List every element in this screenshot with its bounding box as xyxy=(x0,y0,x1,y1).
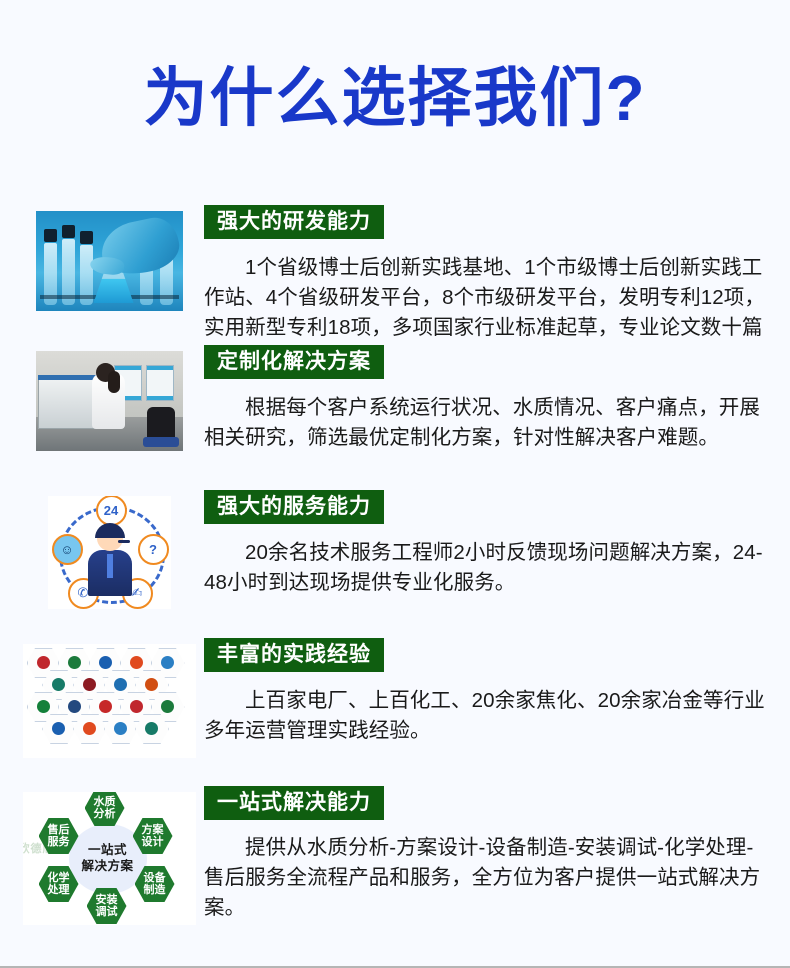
node-line2: 服务 xyxy=(48,836,70,848)
feature-section: 欣德欣 一站式 解决方案 水质 分析 方案 设计 设备 制造 xyxy=(0,786,790,936)
feature-thumbnail-wrap xyxy=(18,345,200,451)
feature-body: 强大的服务能力 20余名技术服务工程师2小时反馈现场问题解决方案，24-48小时… xyxy=(200,490,776,619)
feature-section: 定制化解决方案 根据每个客户系统运行状况、水质情况、客户痛点，开展相关研究，筛选… xyxy=(0,345,790,490)
customer-service-illustration: 24 ☺ ? ✆ ✍ xyxy=(48,496,171,609)
smiley-icon: ☺ xyxy=(52,534,83,565)
diagram-node-install-debug: 安装 调试 xyxy=(87,888,127,924)
node-line2: 设计 xyxy=(142,836,164,848)
node-line1: 售后 xyxy=(48,824,70,836)
node-line1: 设备 xyxy=(144,872,166,884)
support-agent-figure xyxy=(88,526,132,596)
one-stop-solution-diagram: 欣德欣 一站式 解决方案 水质 分析 方案 设计 设备 制造 xyxy=(23,792,196,925)
diagram-center-line1: 一站式 xyxy=(88,843,127,859)
lab-technician-photo xyxy=(36,351,183,451)
node-line1: 化学 xyxy=(48,872,70,884)
feature-body: 丰富的实践经验 上百家电厂、上百化工、20余家焦化、20余家冶金等行业多年运营管… xyxy=(200,638,776,767)
feature-thumbnail-wrap: 欣德欣 一站式 解决方案 水质 分析 方案 设计 设备 制造 xyxy=(18,786,200,925)
feature-thumbnail-wrap xyxy=(18,205,200,311)
client-logos-hexagon-grid xyxy=(23,644,196,758)
feature-badge: 强大的服务能力 xyxy=(204,490,384,525)
hexagon-cells xyxy=(27,648,192,754)
clock-icon: 24 xyxy=(96,496,127,526)
diagram-center-line2: 解决方案 xyxy=(81,859,133,875)
feature-badge: 定制化解决方案 xyxy=(204,345,384,380)
feature-thumbnail-wrap xyxy=(18,638,200,758)
feature-badge: 强大的研发能力 xyxy=(204,205,384,240)
feature-section: 强大的研发能力 1个省级博士后创新实践基地、1个市级博士后创新实践工作站、4个省… xyxy=(0,205,790,345)
node-line2: 分析 xyxy=(94,808,116,820)
feature-section: 24 ☺ ? ✆ ✍ 强大的服务能力 20余名技术服务工程师2小时反馈现场问题解… xyxy=(0,490,790,638)
feature-description: 上百家电厂、上百化工、20余家焦化、20余家冶金等行业多年运营管理实践经验。 xyxy=(204,686,774,746)
feature-description: 20余名技术服务工程师2小时反馈现场问题解决方案，24-48小时到达现场提供专业… xyxy=(204,538,774,598)
page-title: 为什么选择我们? xyxy=(0,43,790,132)
node-line2: 制造 xyxy=(144,884,166,896)
lab-glassware-photo xyxy=(36,211,183,311)
feature-thumbnail-wrap: 24 ☺ ? ✆ ✍ xyxy=(18,490,200,609)
feature-badge: 一站式解决能力 xyxy=(204,786,384,821)
feature-body: 定制化解决方案 根据每个客户系统运行状况、水质情况、客户痛点，开展相关研究，筛选… xyxy=(200,345,776,474)
feature-description: 根据每个客户系统运行状况、水质情况、客户痛点，开展相关研究，筛选最优定制化方案，… xyxy=(204,393,774,453)
feature-description: 提供从水质分析-方案设计-设备制造-安装调试-化学处理-售后服务全流程产品和服务… xyxy=(204,833,774,923)
feature-badge: 丰富的实践经验 xyxy=(204,638,384,673)
feature-body: 一站式解决能力 提供从水质分析-方案设计-设备制造-安装调试-化学处理-售后服务… xyxy=(200,786,776,944)
node-line1: 方案 xyxy=(142,824,164,836)
node-line2: 处理 xyxy=(48,884,70,896)
node-line1: 安装 xyxy=(96,894,118,906)
question-icon: ? xyxy=(138,534,169,565)
node-line2: 调试 xyxy=(96,906,118,918)
feature-sections: 强大的研发能力 1个省级博士后创新实践基地、1个市级博士后创新实践工作站、4个省… xyxy=(0,175,790,936)
feature-section: 丰富的实践经验 上百家电厂、上百化工、20余家焦化、20余家冶金等行业多年运营管… xyxy=(0,638,790,786)
diagram-node-water-analysis: 水质 分析 xyxy=(85,792,125,826)
node-line1: 水质 xyxy=(94,796,116,808)
